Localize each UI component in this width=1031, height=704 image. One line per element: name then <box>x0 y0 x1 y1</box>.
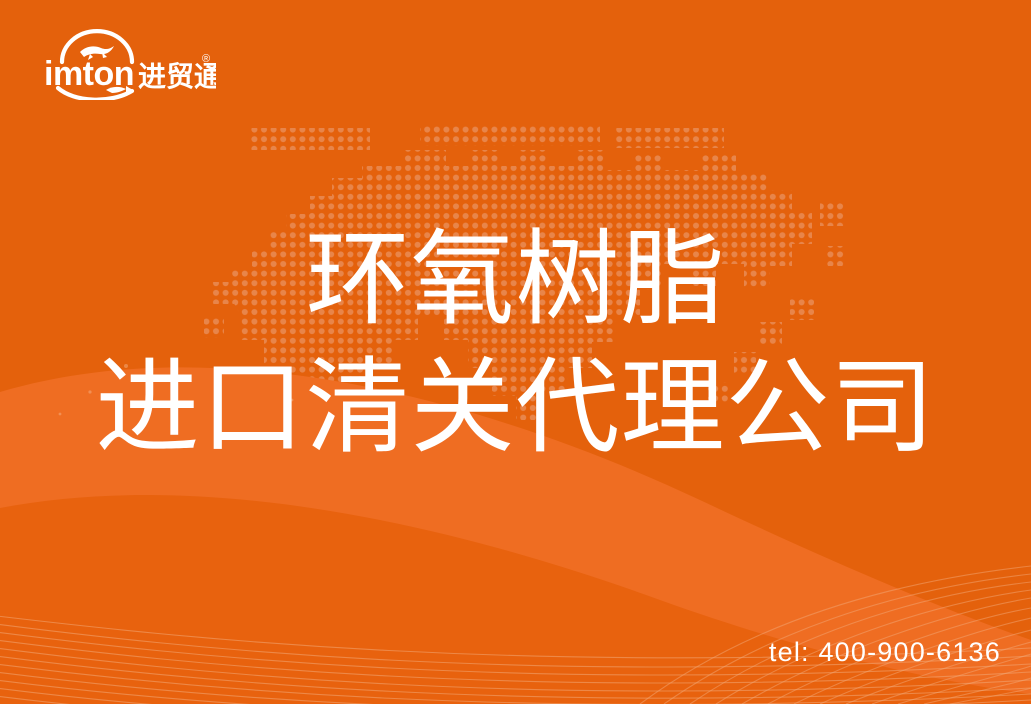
promo-banner: imton 进贸通 ® 环氧树脂 进口清关代理公司 tel: 400-900-6… <box>0 0 1031 704</box>
imton-logo[interactable]: imton 进贸通 ® <box>36 28 216 100</box>
imton-logo-mark: imton 进贸通 ® <box>36 28 216 100</box>
contact-phone[interactable]: tel: 400-900-6136 <box>769 637 1001 668</box>
background-decoration <box>0 0 1031 704</box>
logo-chinese-name: 进贸通 <box>138 61 216 92</box>
registered-mark-icon: ® <box>202 53 210 65</box>
